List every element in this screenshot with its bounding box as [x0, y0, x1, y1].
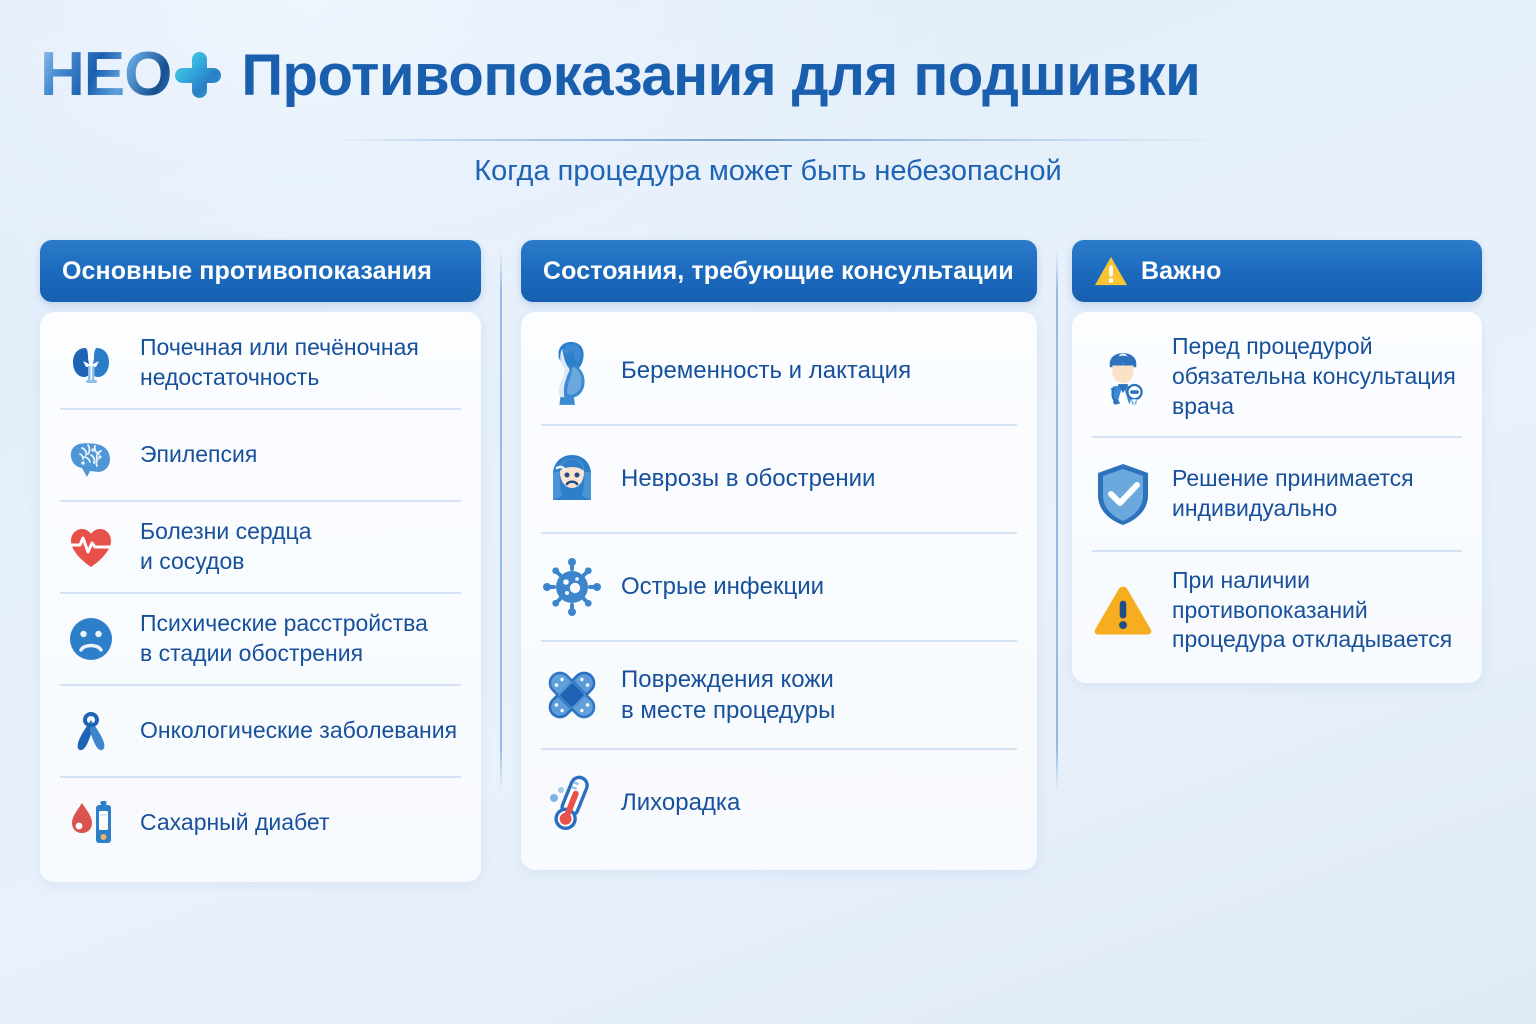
- brain-icon: [60, 424, 122, 486]
- list-item-label: Острые инфекции: [621, 571, 824, 602]
- plus-icon: [175, 52, 221, 98]
- thermometer-icon: [541, 772, 603, 834]
- list-item[interactable]: Эпилепсия: [60, 410, 461, 502]
- doctor-icon: [1092, 346, 1154, 408]
- page-subtitle: Когда процедура может быть небезопасной: [0, 155, 1536, 188]
- heart-pulse-icon: [60, 516, 122, 578]
- brand-row: НЕО Противопоказания для подшивки: [40, 44, 1200, 106]
- list-item[interactable]: Перед процедурой обязательна консультаци…: [1092, 318, 1462, 438]
- warning-triangle-icon: [1092, 580, 1154, 642]
- list-item-label: Почечная или печёночная недостаточность: [140, 333, 419, 393]
- column-separator-2: [1056, 250, 1058, 790]
- virus-icon: [541, 556, 603, 618]
- list-item-label: Беременность и лактация: [621, 355, 911, 386]
- list-item-label: При наличии противопоказаний процедура о…: [1172, 566, 1452, 656]
- column-header-main-contraindications: Основные противопоказания: [40, 240, 481, 302]
- kidneys-icon: [60, 332, 122, 394]
- list-item[interactable]: Онкологические заболевания: [60, 686, 461, 778]
- list-item-label: Решение принимается индивидуально: [1172, 464, 1414, 524]
- list-item-label: Перед процедурой обязательна консультаци…: [1172, 332, 1456, 422]
- list-item[interactable]: При наличии противопоказаний процедура о…: [1092, 552, 1462, 670]
- shield-check-icon: [1092, 463, 1154, 525]
- column-body-main-contraindications: Почечная или печёночная недостаточность …: [40, 312, 481, 882]
- list-item-label: Болезни сердца и сосудов: [140, 517, 312, 577]
- list-item[interactable]: Лихорадка: [541, 750, 1017, 856]
- blood-glucose-meter-icon: [60, 792, 122, 854]
- columns-container: Основные противопоказания Почечная или п…: [40, 240, 1496, 882]
- neo-logo: НЕО: [40, 44, 221, 106]
- list-item-label: Повреждения кожи в месте процедуры: [621, 664, 835, 726]
- list-item[interactable]: Сахарный диабет: [60, 778, 461, 868]
- list-item[interactable]: Болезни сердца и сосудов: [60, 502, 461, 594]
- logo-text: НЕО: [40, 44, 171, 106]
- column-header-consultation-required: Состояния, требующие консультации: [521, 240, 1037, 302]
- list-item[interactable]: Почечная или печёночная недостаточность: [60, 318, 461, 410]
- list-item[interactable]: Психические расстройства в стадии обостр…: [60, 594, 461, 686]
- title-divider: [330, 139, 1230, 141]
- column-header-title: Основные противопоказания: [62, 257, 432, 286]
- list-item-label: Психические расстройства в стадии обостр…: [140, 609, 428, 669]
- column-consultation-required: Состояния, требующие консультации Береме…: [521, 240, 1037, 870]
- list-item-label: Сахарный диабет: [140, 808, 330, 838]
- column-body-important: Перед процедурой обязательна консультаци…: [1072, 312, 1482, 683]
- sad-face-icon: [60, 608, 122, 670]
- list-item[interactable]: Решение принимается индивидуально: [1092, 438, 1462, 552]
- column-header-title: Состояния, требующие консультации: [543, 257, 1014, 286]
- column-separator-1: [500, 250, 502, 790]
- warning-triangle-icon: [1094, 254, 1128, 288]
- list-item-label: Онкологические заболевания: [140, 716, 457, 746]
- column-header-important: Важно: [1072, 240, 1482, 302]
- list-item[interactable]: Неврозы в обострении: [541, 426, 1017, 534]
- bandage-icon: [541, 664, 603, 726]
- page-title: Противопоказания для подшивки: [241, 47, 1200, 105]
- list-item[interactable]: Острые инфекции: [541, 534, 1017, 642]
- page-header: НЕО Противопоказания для подшивки Когда …: [0, 0, 1536, 205]
- column-body-consultation-required: Беременность и лактация: [521, 312, 1037, 870]
- list-item-label: Лихорадка: [621, 787, 740, 818]
- list-item[interactable]: Повреждения кожи в месте процедуры: [541, 642, 1017, 750]
- list-item-label: Неврозы в обострении: [621, 463, 875, 494]
- awareness-ribbon-icon: [60, 700, 122, 762]
- distressed-woman-icon: [541, 448, 603, 510]
- list-item[interactable]: Беременность и лактация: [541, 318, 1017, 426]
- column-important: Важно: [1072, 240, 1482, 683]
- pregnant-woman-icon: [541, 340, 603, 402]
- list-item-label: Эпилепсия: [140, 440, 257, 470]
- column-main-contraindications: Основные противопоказания Почечная или п…: [40, 240, 481, 882]
- column-header-title: Важно: [1141, 257, 1222, 286]
